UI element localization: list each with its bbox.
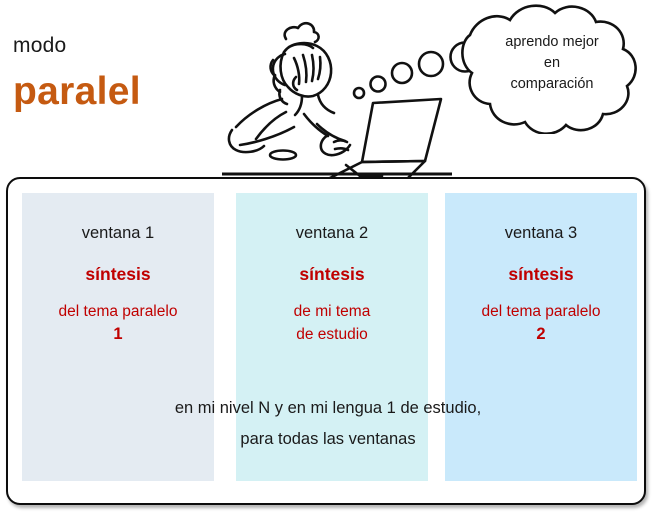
window-description-text-1: del tema paralelo: [59, 303, 178, 320]
window-description-text-2: de mi tema: [294, 303, 371, 320]
window-description-emphasis-3: 2: [536, 325, 545, 343]
thought-bubble-line-3: comparación: [510, 76, 593, 92]
mode-value: paralel: [13, 70, 141, 114]
windows-panel: ventana 1 síntesis del tema paralelo 1 v…: [6, 177, 646, 505]
thought-bubble-text: aprendo mejor en comparación: [462, 32, 642, 95]
window-column-3[interactable]: ventana 3 síntesis del tema paralelo 2: [445, 193, 637, 481]
thought-bubble-line-2: en: [544, 55, 560, 71]
window-synthesis-2: síntesis: [236, 264, 428, 284]
window-description-emphasis-1: 1: [113, 325, 122, 343]
window-description-text-3: del tema paralelo: [482, 303, 601, 320]
window-title-1: ventana 1: [22, 223, 214, 243]
window-description-emphasis-2: de estudio: [296, 326, 368, 343]
mode-label: modo: [13, 34, 66, 58]
window-description-3: del tema paralelo 2: [445, 300, 637, 346]
window-description-1: del tema paralelo 1: [22, 300, 214, 346]
window-description-2: de mi tema de estudio: [236, 300, 428, 346]
thought-bubble-line-1: aprendo mejor: [505, 34, 599, 50]
window-synthesis-1: síntesis: [22, 264, 214, 284]
window-title-3: ventana 3: [445, 223, 637, 243]
window-column-1[interactable]: ventana 1 síntesis del tema paralelo 1: [22, 193, 214, 481]
window-synthesis-3: síntesis: [445, 264, 637, 284]
header-area: modo paralel: [0, 0, 657, 177]
window-column-2[interactable]: ventana 2 síntesis de mi tema de estudio: [236, 193, 428, 481]
window-title-2: ventana 2: [236, 223, 428, 243]
